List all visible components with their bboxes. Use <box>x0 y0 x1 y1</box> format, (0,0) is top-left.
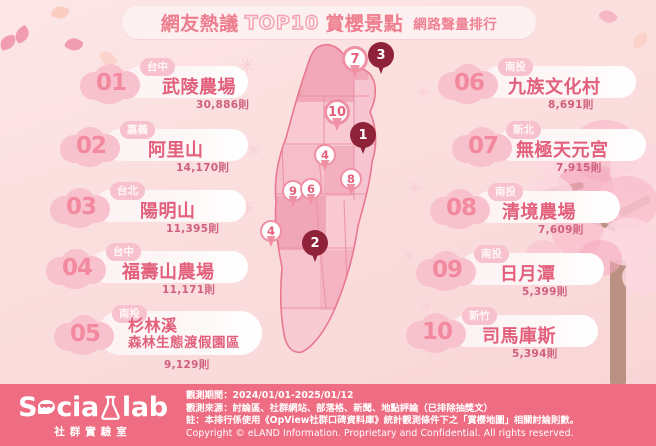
rank-number: 03 <box>48 184 114 230</box>
map-pin-6[interactable]: 6 <box>300 178 322 206</box>
note-source: 觀測來源：討論區、社群網站、部落格、新聞、地點評論（已排除抽獎文） <box>186 403 646 416</box>
rank-number: 05 <box>52 311 118 357</box>
rank-count: 7,915則 <box>556 160 602 175</box>
speech-bubble-icon <box>38 400 55 414</box>
taiwan-map-svg <box>258 40 408 370</box>
title-main-1: 網友熱議 <box>161 9 239 36</box>
petal-decoration <box>598 6 619 27</box>
rank-place-name: 武陵農場 <box>162 73 236 99</box>
rank-item-03[interactable]: 03 台北 陽明山 11,395則 <box>48 182 248 240</box>
note-period: 觀測期間：2024/01/01-2025/01/12 <box>186 390 646 403</box>
rank-place-name: 福壽山農場 <box>122 258 215 284</box>
rank-place-name: 無極天元宮 <box>516 136 609 162</box>
rank-count: 8,691則 <box>548 97 594 112</box>
rank-item-02[interactable]: 02 嘉義 阿里山 14,170則 <box>58 121 248 179</box>
title-subtitle: 網路聲量排行 <box>413 13 497 33</box>
sakura-flower-icon: ✳ <box>417 85 430 101</box>
rank-count: 7,609則 <box>538 222 584 237</box>
rank-item-04[interactable]: 04 台中 福壽山農場 11,171則 <box>44 243 250 301</box>
rank-item-10[interactable]: 10 新竹 司馬庫斯 5,394則 <box>404 307 598 365</box>
rank-number: 01 <box>78 60 144 106</box>
sociallab-logo[interactable]: S cia lab 社群實驗室 <box>0 392 186 439</box>
rank-number: 04 <box>44 245 110 291</box>
rank-number: 06 <box>436 60 502 106</box>
rank-place-line2: 森林生態渡假園區 <box>128 335 240 351</box>
rank-number: 08 <box>428 185 494 231</box>
map-pin-4b[interactable]: 4 <box>260 220 282 248</box>
logo-letters-cia: cia <box>56 392 99 423</box>
logo-subtitle: 社群實驗室 <box>54 424 132 439</box>
petal-decoration <box>0 34 17 51</box>
rank-number: 02 <box>58 123 124 169</box>
map-pin-3[interactable]: 3 <box>368 42 394 75</box>
taiwan-map: 7 3 10 1 4 8 9 6 4 2 <box>258 40 408 370</box>
rank-count: 9,129則 <box>164 357 210 372</box>
rank-place-name: 杉林溪 森林生態渡假園區 <box>128 318 240 351</box>
sakura-flower-icon: ✳ <box>408 180 423 198</box>
rank-place-name: 司馬庫斯 <box>482 322 556 348</box>
rank-count: 11,395則 <box>166 221 219 236</box>
rank-item-09[interactable]: 09 南投 日月潭 5,399則 <box>414 245 604 303</box>
rank-count: 5,394則 <box>512 346 558 361</box>
note-method: 註：本排行係使用《OpView社群口碑資料庫》統計觀測條件下之「賞櫻地圖」相關討… <box>186 415 646 428</box>
title-main-2: 賞櫻景點 <box>325 9 403 36</box>
rank-place-name: 九族文化村 <box>508 73 601 99</box>
rank-place-name: 日月潭 <box>500 260 556 286</box>
rank-item-01[interactable]: 01 台中 武陵農場 30,886則 <box>78 58 248 116</box>
logo-letters-lab: lab <box>122 392 168 423</box>
rank-count: 14,170則 <box>176 160 229 175</box>
rank-item-06[interactable]: 06 南投 九族文化村 8,691則 <box>436 58 636 116</box>
rank-item-07[interactable]: 07 新北 無極天元宮 7,915則 <box>450 121 646 179</box>
rank-place-name: 清境農場 <box>502 198 576 224</box>
map-pin-2[interactable]: 2 <box>302 230 328 263</box>
petal-decoration <box>630 32 649 50</box>
logo-letter-s: S <box>18 392 37 423</box>
flask-icon <box>100 395 121 420</box>
infographic-canvas: ✳ ✳ ✳ ✳ ✳ ✳ ✳ ✳ 網友熱議 TOP10 賞櫻景點 網路聲量排行 <box>0 0 656 446</box>
rank-number: 10 <box>404 309 470 355</box>
rank-count: 5,399則 <box>522 284 568 299</box>
rank-count: 30,886則 <box>196 97 249 112</box>
rank-place-name: 陽明山 <box>140 197 196 223</box>
footer-notes: 觀測期間：2024/01/01-2025/01/12 觀測來源：討論區、社群網站… <box>186 390 656 440</box>
rank-place-name: 阿里山 <box>148 136 204 162</box>
rank-item-08[interactable]: 08 南投 清境農場 7,609則 <box>428 183 620 241</box>
map-pin-10[interactable]: 10 <box>324 99 350 132</box>
map-pin-4a[interactable]: 4 <box>314 144 336 172</box>
logo-wordmark: S cia lab <box>18 392 168 423</box>
page-title: 網友熱議 TOP10 賞櫻景點 網路聲量排行 <box>122 6 536 39</box>
map-pin-8[interactable]: 8 <box>340 168 362 196</box>
title-top10: TOP10 <box>245 12 319 34</box>
map-pin-1[interactable]: 1 <box>350 122 376 155</box>
map-pin-7[interactable]: 7 <box>342 46 368 79</box>
rank-item-05[interactable]: 05 南投 杉林溪 森林生態渡假園區 9,129則 <box>52 305 264 373</box>
petal-decoration <box>64 35 84 54</box>
rank-number: 09 <box>414 247 480 293</box>
footer-bar: S cia lab 社群實驗室 觀測期間：2024/01/01-2025/01/… <box>0 384 656 446</box>
rank-place-line1: 杉林溪 <box>128 316 178 335</box>
note-copyright: Copyright © eLAND Information. Proprieta… <box>186 428 646 441</box>
rank-count: 11,171則 <box>162 282 215 297</box>
petal-decoration <box>50 4 69 22</box>
